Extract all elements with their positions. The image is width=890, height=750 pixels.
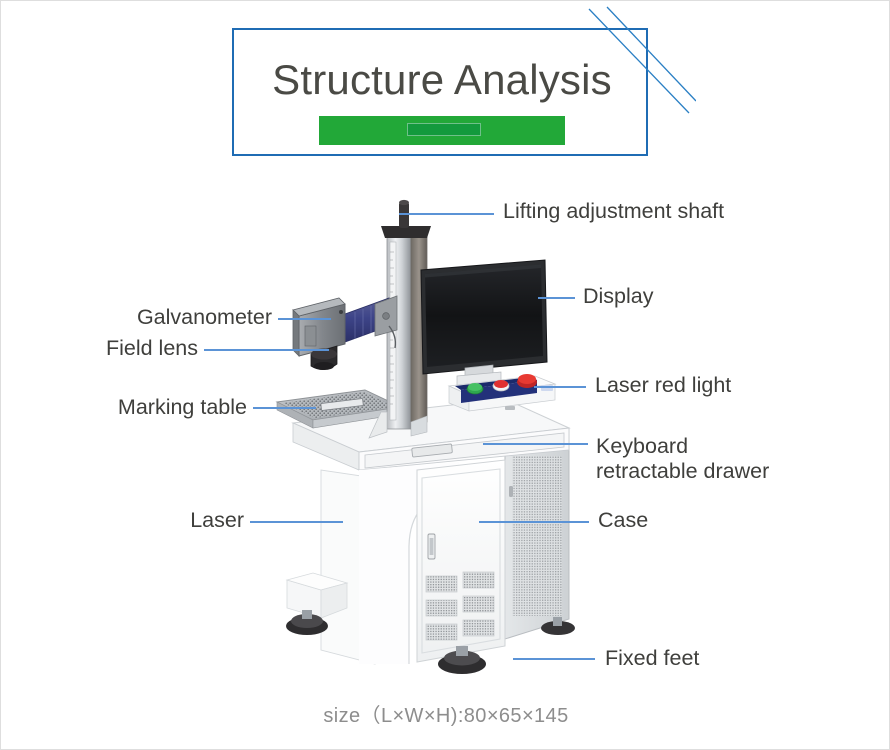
label-keyboard-retractable-drawer: Keyboard retractable drawer bbox=[596, 434, 846, 484]
label-keyboard-line-1: Keyboard bbox=[596, 434, 846, 459]
leader-laser bbox=[250, 521, 343, 523]
label-fixed-feet: Fixed feet bbox=[605, 646, 699, 671]
leader-case bbox=[479, 521, 589, 523]
leader-fixed-feet bbox=[513, 658, 595, 660]
label-laser: Laser bbox=[1, 508, 244, 533]
label-field-lens: Field lens bbox=[1, 336, 198, 361]
label-laser-red-light: Laser red light bbox=[595, 373, 731, 398]
structure-analysis-slide: Structure Analysis bbox=[0, 0, 890, 750]
label-display: Display bbox=[583, 284, 654, 309]
size-caption: size（L×W×H):80×65×145 bbox=[1, 699, 890, 728]
leader-lifting-adjustment-shaft bbox=[399, 213, 494, 215]
title-accent-bar-inner bbox=[407, 123, 481, 136]
title-frame: Structure Analysis bbox=[232, 28, 648, 156]
label-galvanometer: Galvanometer bbox=[1, 305, 272, 330]
leader-display bbox=[538, 297, 575, 299]
label-marking-table: Marking table bbox=[1, 395, 247, 420]
leader-galvanometer bbox=[278, 318, 331, 320]
label-keyboard-line-2: retractable drawer bbox=[596, 459, 846, 484]
laser-marking-machine-illustration bbox=[269, 194, 599, 674]
label-lifting-adjustment-shaft: Lifting adjustment shaft bbox=[503, 199, 724, 224]
label-case: Case bbox=[598, 508, 648, 533]
title-accent-bar bbox=[319, 116, 565, 145]
leader-laser-red-light bbox=[534, 386, 586, 388]
leader-field-lens bbox=[204, 349, 329, 351]
leader-keyboard-retractable-drawer bbox=[483, 443, 588, 445]
leader-marking-table bbox=[253, 407, 316, 409]
page-title: Structure Analysis bbox=[234, 56, 650, 104]
